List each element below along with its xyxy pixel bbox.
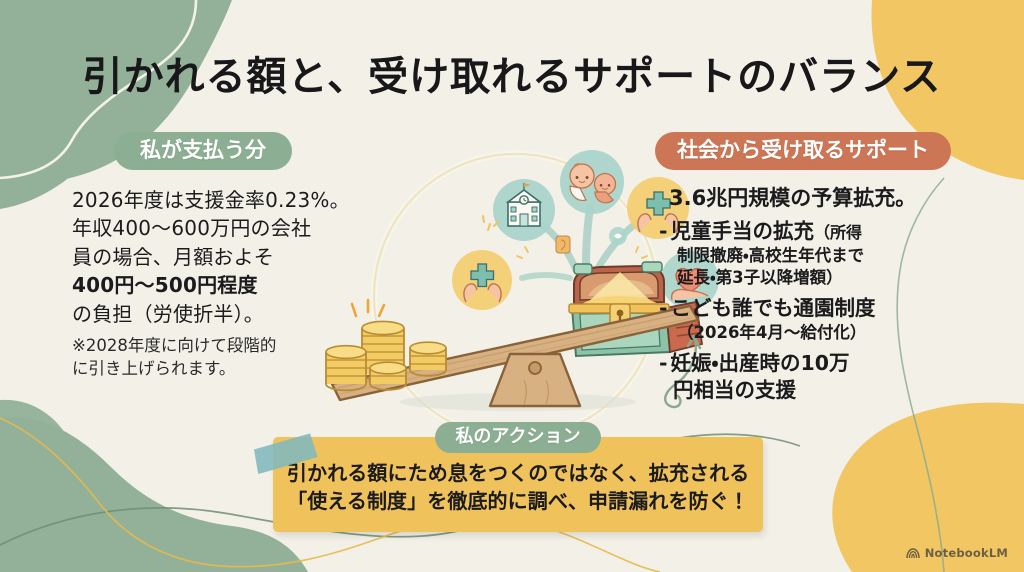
left-panel: 私が支払う分 2026年度は支援金率0.23%。 年収400〜600万円の会社 … [72, 132, 354, 380]
right-panel-pill: 社会から受け取るサポート [655, 132, 951, 170]
action-line-1: 「使える制度」を徹底的に調べ、申請漏れを防ぐ！ [287, 487, 749, 515]
page-title: 引かれる額と、受け取れるサポートのバランス [0, 44, 1024, 102]
right-panel-body: 3.6兆円規模の予算拡充。 -児童手当の拡充（所得 制限撤廃・高校生年代まで 延… [655, 185, 985, 403]
right-bullet-1-dash: - [659, 296, 668, 320]
medical-cross-hands-icon-left [452, 250, 512, 310]
left-panel-pill: 私が支払う分 [114, 132, 292, 170]
right-bullet-2-dash: - [659, 351, 668, 375]
action-box: 私のアクション 引かれる額にため息をつくのではなく、拡充される 「使える制度」を… [273, 437, 763, 532]
notebooklm-spiral-icon [906, 547, 920, 560]
left-line-3-highlight: 400円〜500円程度 [72, 271, 354, 299]
right-bullet-1-title: こども誰でも通園制度 [671, 296, 876, 320]
left-panel-note: ※2028年度に向けて段階的 に引き上げられます。 [72, 335, 354, 381]
right-bullet-0-title: 児童手当の拡充 [671, 219, 815, 243]
action-pill-holder: 私のアクション [273, 422, 763, 453]
action-pill: 私のアクション [435, 422, 600, 453]
coin-sparkle [352, 300, 384, 316]
right-bullet-2: -妊娠・出産時の10万 円相当の支援 [655, 350, 985, 403]
right-bullet-1-sub-0: （2026年4月〜給付化） [659, 322, 985, 344]
notebooklm-watermark: NotebookLM [906, 546, 1008, 560]
two-babies-icon [560, 150, 624, 214]
right-bullet-1-head: -こども誰でも通園制度 [659, 295, 985, 322]
action-line-0: 引かれる額にため息をつくのではなく、拡充される [287, 459, 749, 487]
right-bullet-1: -こども誰でも通園制度 （2026年4月〜給付化） [655, 295, 985, 344]
left-line-0: 2026年度は支援金率0.23%。 [72, 186, 354, 214]
left-note-0: ※2028年度に向けて段階的 [72, 335, 354, 358]
right-bullet-0-dash: - [659, 219, 668, 243]
right-bullet-2-title: 妊娠・出産時の10万 [671, 351, 850, 375]
left-note-1: に引き上げられます。 [72, 358, 354, 381]
right-bullet-2-cont: 円相当の支援 [659, 377, 985, 404]
action-text: 引かれる額にため息をつくのではなく、拡充される 「使える制度」を徹底的に調べ、申… [287, 459, 749, 516]
right-bullet-0-title-small: （所得 [814, 223, 862, 242]
blob-bottom-left-sage [0, 417, 308, 572]
left-line-4: の負担（労使折半）。 [72, 300, 354, 328]
infographic-canvas: 引かれる額と、受け取れるサポートのバランス [0, 0, 1024, 572]
blob-bottom-left-sage2 [0, 400, 130, 540]
right-bullet-0-sub-0: 制限撤廃・高校生年代まで [659, 245, 985, 267]
left-line-1: 年収400〜600万円の会社 [72, 214, 354, 242]
watermark-label: NotebookLM [925, 546, 1008, 560]
left-panel-body: 2026年度は支援金率0.23%。 年収400〜600万円の会社 員の場合、月額… [72, 186, 354, 328]
right-bullet-0: -児童手当の拡充（所得 制限撤廃・高校生年代まで 延長・第3子以降増額） [655, 218, 985, 289]
right-bullet-2-head: -妊娠・出産時の10万 [659, 350, 985, 377]
right-bullet-0-sub-1: 延長・第3子以降増額） [659, 267, 985, 289]
right-panel-lead: 3.6兆円規模の予算拡充。 [655, 185, 985, 212]
left-line-2: 員の場合、月額およそ [72, 243, 354, 271]
right-panel: 社会から受け取るサポート 3.6兆円規模の予算拡充。 -児童手当の拡充（所得 制… [655, 132, 985, 403]
right-bullet-0-head: -児童手当の拡充（所得 [659, 218, 985, 245]
action-box-wrapper: 私のアクション 引かれる額にため息をつくのではなく、拡充される 「使える制度」を… [273, 437, 763, 532]
school-building-icon [493, 179, 555, 241]
